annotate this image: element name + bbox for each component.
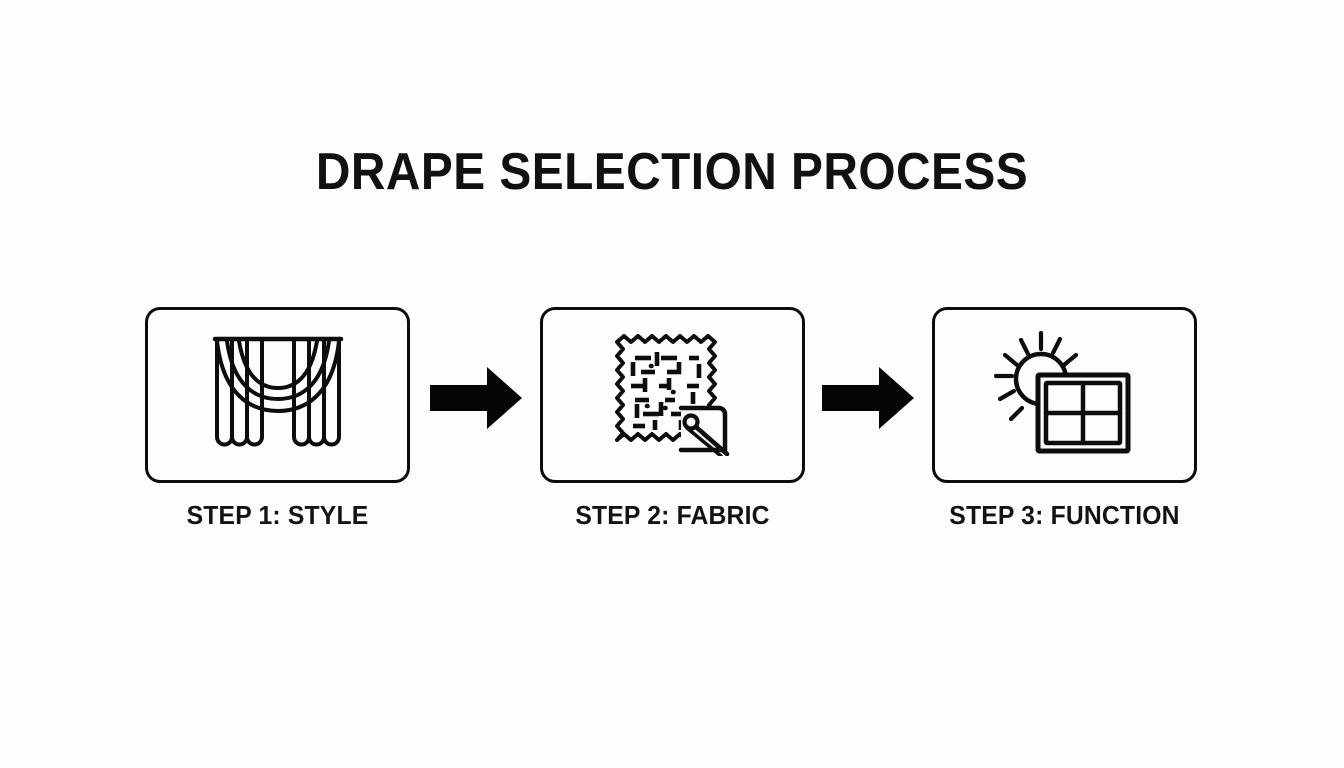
step-1-label: STEP 1: STYLE xyxy=(152,500,404,530)
steps-row: STEP 1: STYLE xyxy=(0,307,1344,537)
curtain-drape-icon xyxy=(203,333,353,457)
arrow-step1-to-step2 xyxy=(430,367,522,429)
right-arrow-icon xyxy=(822,367,914,429)
step-2-label: STEP 2: FABRIC xyxy=(547,500,799,530)
step-2-icon-box[interactable] xyxy=(540,307,805,483)
infographic-canvas: DRAPE SELECTION PROCESS xyxy=(0,0,1344,768)
fabric-swatch-needle-icon xyxy=(609,334,737,456)
step-card-1[interactable]: STEP 1: STYLE xyxy=(145,307,410,530)
step-card-2[interactable]: STEP 2: FABRIC xyxy=(540,307,805,530)
step-3-label: STEP 3: FUNCTION xyxy=(939,500,1191,530)
step-card-3[interactable]: STEP 3: FUNCTION xyxy=(932,307,1197,530)
step-1-icon-box[interactable] xyxy=(145,307,410,483)
arrow-step2-to-step3 xyxy=(822,367,914,429)
right-arrow-icon xyxy=(430,367,522,429)
sun-window-icon xyxy=(994,331,1136,459)
page-title: DRAPE SELECTION PROCESS xyxy=(54,142,1290,202)
step-3-icon-box[interactable] xyxy=(932,307,1197,483)
